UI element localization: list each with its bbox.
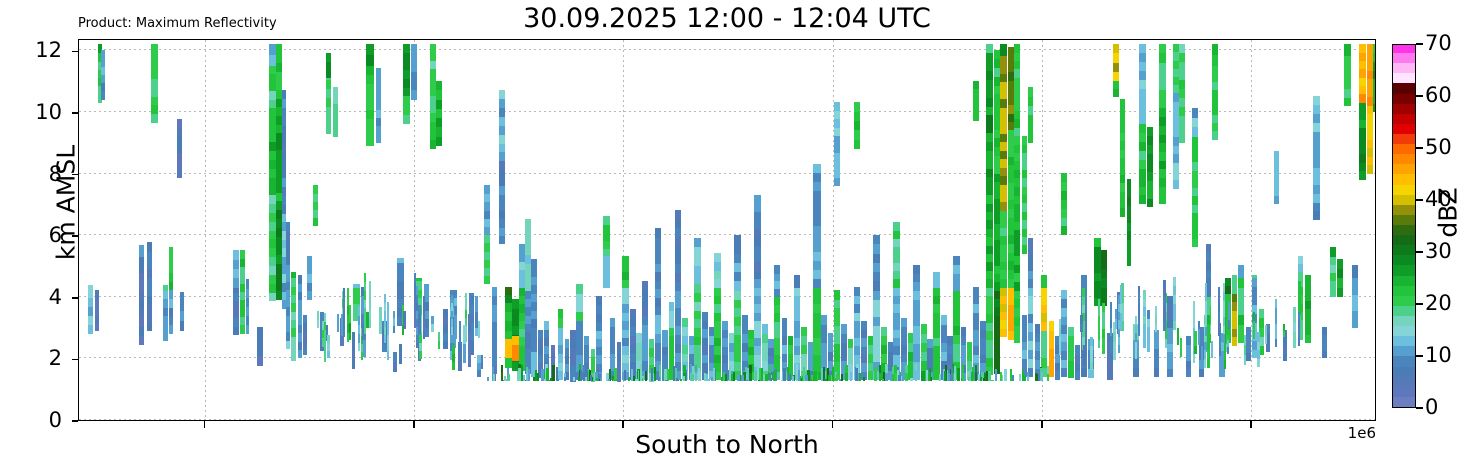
reflectivity-cell — [1205, 300, 1207, 309]
reflectivity-cell — [995, 369, 997, 381]
reflectivity-cell — [1246, 327, 1251, 336]
reflectivity-cell — [324, 337, 326, 346]
reflectivity-column — [807, 39, 809, 420]
reflectivity-column — [676, 39, 678, 420]
reflectivity-column — [758, 39, 760, 420]
reflectivity-cell — [347, 297, 349, 306]
reflectivity-cell — [1373, 62, 1376, 71]
reflectivity-cell — [1265, 334, 1267, 344]
reflectivity-cell — [88, 306, 93, 316]
reflectivity-column — [1223, 39, 1225, 420]
y-axis-tick-label: 12 — [2, 40, 62, 61]
reflectivity-column — [399, 39, 401, 420]
reflectivity-cell — [1049, 358, 1054, 368]
reflectivity-cell — [1090, 354, 1092, 363]
reflectivity-cell — [443, 325, 448, 334]
reflectivity-cell — [139, 263, 144, 273]
reflectivity-cell — [623, 380, 625, 381]
reflectivity-cell — [276, 71, 281, 81]
reflectivity-cell — [1082, 337, 1084, 346]
reflectivity-cell — [1167, 319, 1173, 327]
reflectivity-cell — [1061, 182, 1067, 191]
reflectivity-cell — [1068, 369, 1074, 378]
colorbar-tick — [1416, 355, 1423, 357]
reflectivity-column — [590, 39, 592, 420]
reflectivity-cell — [276, 254, 281, 264]
reflectivity-cell — [269, 116, 275, 125]
reflectivity-cell — [423, 305, 425, 314]
reflectivity-cell — [324, 345, 326, 354]
reflectivity-cell — [1246, 335, 1251, 344]
reflectivity-column — [1337, 39, 1343, 420]
reflectivity-cell — [905, 372, 907, 380]
reflectivity-column — [713, 39, 715, 420]
reflectivity-cell — [980, 377, 982, 381]
reflectivity-column — [763, 39, 765, 420]
reflectivity-cell — [101, 91, 104, 100]
reflectivity-column — [1244, 39, 1246, 420]
reflectivity-cell — [384, 327, 386, 336]
reflectivity-column — [631, 39, 633, 420]
reflectivity-column — [770, 39, 772, 420]
reflectivity-cell — [1127, 188, 1132, 197]
reflectivity-cell — [1194, 331, 1196, 339]
reflectivity-cell — [1223, 325, 1225, 334]
reflectivity-column — [856, 39, 858, 420]
reflectivity-cell — [1194, 338, 1196, 346]
reflectivity-column — [1218, 39, 1220, 420]
reflectivity-cell — [552, 365, 554, 373]
reflectivity-column — [578, 39, 580, 420]
reflectivity-cell — [151, 44, 157, 53]
reflectivity-cell — [1359, 77, 1366, 86]
reflectivity-cell — [954, 366, 956, 373]
reflectivity-column — [327, 39, 329, 420]
reflectivity-cell — [269, 257, 275, 266]
reflectivity-column — [894, 39, 896, 420]
reflectivity-cell — [324, 329, 326, 338]
reflectivity-column — [493, 39, 495, 420]
reflectivity-cell — [1359, 153, 1366, 162]
reflectivity-column — [487, 39, 489, 420]
reflectivity-cell — [1102, 345, 1104, 354]
reflectivity-cell — [493, 374, 495, 381]
reflectivity-cell — [169, 325, 174, 334]
reflectivity-cell — [1301, 303, 1303, 312]
reflectivity-cell — [1061, 350, 1067, 359]
reflectivity-column — [552, 39, 554, 420]
reflectivity-cell — [729, 373, 731, 381]
reflectivity-column — [814, 39, 816, 420]
reflectivity-column — [88, 39, 93, 420]
reflectivity-cell — [1373, 103, 1376, 112]
reflectivity-column — [890, 39, 892, 420]
reflectivity-cell — [298, 275, 303, 284]
reflectivity-cell — [737, 374, 739, 381]
reflectivity-cell — [298, 333, 303, 342]
reflectivity-column — [257, 39, 263, 420]
reflectivity-cell — [416, 294, 418, 303]
reflectivity-cell — [1110, 319, 1112, 328]
colorbar-label: dBZ — [1436, 143, 1461, 283]
reflectivity-cell — [803, 367, 805, 380]
reflectivity-cell — [1227, 347, 1229, 354]
colorbar-tick — [1416, 147, 1423, 149]
reflectivity-cell — [384, 302, 386, 311]
reflectivity-cell — [608, 379, 610, 381]
reflectivity-cell — [868, 371, 873, 380]
reflectivity-column — [665, 39, 667, 420]
reflectivity-cell — [1344, 44, 1350, 57]
reflectivity-cell — [1138, 294, 1140, 303]
reflectivity-cell — [1110, 311, 1112, 320]
reflectivity-cell — [796, 364, 798, 372]
reflectivity-cell — [1143, 299, 1145, 308]
reflectivity-column — [882, 39, 884, 420]
reflectivity-cell — [557, 379, 559, 381]
reflectivity-cell — [1102, 312, 1104, 321]
reflectivity-cell — [298, 291, 303, 300]
reflectivity-cell — [307, 256, 312, 265]
reflectivity-cell — [169, 307, 174, 316]
reflectivity-cell — [269, 239, 275, 248]
reflectivity-cell — [471, 304, 473, 314]
reflectivity-cell — [1118, 336, 1120, 345]
reflectivity-column — [905, 39, 907, 420]
reflectivity-cell — [1138, 302, 1140, 311]
reflectivity-cell — [1163, 288, 1165, 297]
reflectivity-cell — [291, 294, 297, 303]
reflectivity-cell — [1023, 376, 1025, 381]
reflectivity-column — [1135, 39, 1137, 420]
reflectivity-cell — [1198, 321, 1200, 329]
reflectivity-cell — [1135, 341, 1137, 350]
reflectivity-cell — [291, 328, 297, 337]
reflectivity-cell — [590, 375, 592, 380]
reflectivity-cell — [269, 159, 275, 168]
reflectivity-cell — [276, 210, 281, 220]
reflectivity-cell — [868, 345, 873, 354]
reflectivity-column — [1143, 39, 1145, 420]
reflectivity-cell — [298, 316, 303, 325]
reflectivity-cell — [755, 371, 757, 381]
reflectivity-cell — [1330, 288, 1336, 297]
reflectivity-cell — [1118, 320, 1120, 329]
reflectivity-column — [557, 39, 559, 420]
reflectivity-cell — [163, 307, 168, 316]
reflectivity-cell — [975, 373, 977, 381]
reflectivity-cell — [139, 308, 144, 318]
reflectivity-cell — [1061, 316, 1067, 325]
reflectivity-cell — [403, 320, 405, 329]
reflectivity-column — [169, 39, 174, 420]
reflectivity-cell — [805, 375, 807, 381]
reflectivity-cell — [1205, 283, 1207, 292]
reflectivity-cell — [544, 379, 546, 381]
reflectivity-cell — [327, 343, 329, 351]
reflectivity-cell — [384, 294, 386, 303]
reflectivity-cell — [358, 333, 360, 343]
reflectivity-column — [971, 39, 973, 420]
reflectivity-cell — [749, 365, 751, 373]
reflectivity-cell — [882, 379, 884, 380]
reflectivity-cell — [1143, 290, 1145, 299]
reflectivity-cell — [291, 272, 297, 279]
plot-area[interactable] — [78, 39, 1376, 421]
reflectivity-cell — [1061, 325, 1067, 334]
reflectivity-cell — [1118, 328, 1120, 337]
reflectivity-column — [944, 39, 946, 420]
reflectivity-cell — [337, 314, 339, 323]
reflectivity-cell — [1061, 191, 1067, 200]
reflectivity-column — [635, 39, 637, 420]
reflectivity-cell — [1301, 287, 1303, 296]
reflectivity-column — [745, 39, 747, 420]
reflectivity-cell — [257, 346, 263, 356]
reflectivity-cell — [151, 96, 157, 105]
reflectivity-cell — [1352, 265, 1358, 278]
reflectivity-cell — [1061, 290, 1067, 299]
reflectivity-cell — [414, 291, 416, 301]
reflectivity-cell — [1367, 96, 1373, 105]
reflectivity-cell — [773, 371, 775, 381]
reflectivity-cell — [240, 317, 245, 326]
reflectivity-cell — [246, 306, 250, 316]
reflectivity-column — [698, 39, 700, 420]
reflectivity-cell — [276, 272, 281, 282]
reflectivity-cell — [1305, 325, 1310, 334]
colorbar-segment — [1393, 335, 1415, 346]
reflectivity-cell — [169, 299, 174, 308]
reflectivity-cell — [1098, 331, 1100, 340]
colorbar-segment — [1393, 255, 1415, 266]
reflectivity-cell — [233, 309, 238, 318]
reflectivity-cell — [692, 366, 694, 374]
reflectivity-cell — [337, 322, 339, 331]
reflectivity-cell — [269, 274, 275, 283]
reflectivity-cell — [414, 318, 416, 328]
reflectivity-cell — [1373, 95, 1376, 104]
reflectivity-cell — [828, 375, 830, 381]
reflectivity-cell — [1167, 352, 1173, 361]
reflectivity-cell — [1305, 317, 1310, 326]
reflectivity-column — [645, 39, 647, 420]
reflectivity-cell — [471, 340, 473, 350]
reflectivity-column — [926, 39, 928, 420]
reflectivity-cell — [276, 290, 281, 300]
reflectivity-column — [600, 39, 602, 420]
colorbar-segment — [1393, 164, 1415, 175]
reflectivity-cell — [1359, 171, 1366, 180]
reflectivity-column — [1167, 39, 1173, 420]
reflectivity-cell — [1313, 211, 1319, 220]
x-axis-tick — [1250, 421, 1252, 428]
reflectivity-column — [803, 39, 805, 420]
reflectivity-cell — [1275, 331, 1277, 340]
reflectivity-cell — [1301, 295, 1303, 304]
reflectivity-column — [1344, 39, 1350, 420]
reflectivity-cell — [983, 378, 985, 381]
reflectivity-cell — [1367, 156, 1373, 165]
reflectivity-cell — [939, 374, 941, 380]
reflectivity-column — [1068, 39, 1074, 420]
reflectivity-cell — [836, 374, 838, 380]
reflectivity-cell — [1232, 275, 1237, 285]
reflectivity-cell — [1275, 299, 1277, 308]
reflectivity-cell — [1367, 79, 1373, 88]
reflectivity-cell — [1359, 145, 1366, 154]
reflectivity-cell — [233, 268, 238, 278]
reflectivity-column — [910, 39, 912, 420]
reflectivity-cell — [905, 365, 907, 373]
reflectivity-cell — [233, 301, 238, 310]
reflectivity-cell — [419, 343, 421, 351]
reflectivity-cell — [1218, 319, 1220, 328]
reflectivity-cell — [1135, 324, 1137, 333]
colorbar-segment — [1393, 184, 1415, 195]
reflectivity-column — [640, 39, 642, 420]
reflectivity-cell — [1143, 339, 1145, 348]
colorbar-segment — [1393, 194, 1415, 205]
reflectivity-cell — [713, 368, 715, 381]
reflectivity-cell — [1118, 345, 1120, 354]
reflectivity-cell — [1090, 337, 1092, 346]
colorbar-tick — [1416, 407, 1423, 409]
reflectivity-column — [1257, 39, 1259, 420]
reflectivity-cell — [1167, 360, 1173, 369]
reflectivity-cell — [698, 368, 700, 381]
reflectivity-column — [683, 39, 685, 420]
colorbar-tick — [1416, 95, 1423, 97]
reflectivity-cell — [240, 292, 245, 301]
reflectivity-column — [1373, 39, 1376, 420]
reflectivity-column — [324, 39, 326, 420]
reflectivity-cell — [1147, 335, 1149, 344]
reflectivity-cell — [879, 365, 881, 373]
reflectivity-column — [711, 39, 713, 420]
reflectivity-cell — [1257, 332, 1259, 341]
colorbar-segment — [1393, 305, 1415, 316]
reflectivity-cell — [1102, 329, 1104, 338]
reflectivity-cell — [1223, 334, 1225, 343]
reflectivity-cell — [1205, 318, 1207, 327]
reflectivity-cell — [101, 83, 104, 92]
colorbar-tick — [1416, 303, 1423, 305]
reflectivity-cell — [1110, 327, 1112, 336]
colorbar-segment — [1393, 275, 1415, 286]
reflectivity-cell — [1118, 312, 1120, 321]
colorbar[interactable] — [1392, 44, 1416, 408]
reflectivity-column — [810, 39, 812, 420]
colorbar-segment — [1393, 113, 1415, 124]
colorbar-segment — [1393, 123, 1415, 134]
reflectivity-column — [596, 39, 598, 420]
reflectivity-column — [403, 39, 405, 420]
reflectivity-cell — [783, 368, 785, 381]
reflectivity-cell — [863, 377, 865, 380]
reflectivity-cell — [276, 158, 281, 167]
reflectivity-cell — [393, 318, 395, 326]
reflectivity-cell — [291, 278, 297, 287]
reflectivity-cell — [879, 373, 881, 381]
reflectivity-cell — [1098, 339, 1100, 348]
reflectivity-cell — [1173, 303, 1175, 312]
reflectivity-cell — [163, 315, 168, 324]
reflectivity-cell — [1283, 330, 1285, 337]
reflectivity-cell — [139, 245, 144, 256]
reflectivity-cell — [600, 378, 602, 380]
reflectivity-cell — [1102, 337, 1104, 346]
reflectivity-cell — [1049, 367, 1054, 377]
reflectivity-cell — [1293, 339, 1295, 348]
reflectivity-cell — [1167, 335, 1173, 344]
reflectivity-cell — [583, 365, 585, 373]
reflectivity-cell — [384, 335, 386, 344]
reflectivity-column — [478, 39, 480, 420]
reflectivity-column — [1227, 39, 1229, 420]
colorbar-segment — [1393, 62, 1415, 73]
reflectivity-cell — [1068, 335, 1074, 344]
reflectivity-cell — [1367, 61, 1373, 70]
reflectivity-cell — [269, 212, 275, 221]
reflectivity-column — [1211, 39, 1213, 420]
reflectivity-cell — [1330, 256, 1336, 265]
colorbar-segment — [1393, 174, 1415, 185]
reflectivity-column — [1198, 39, 1200, 420]
reflectivity-column — [617, 39, 622, 420]
reflectivity-column — [1080, 39, 1082, 420]
reflectivity-cell — [552, 373, 554, 381]
reflectivity-cell — [1218, 303, 1220, 312]
reflectivity-cell — [327, 335, 329, 343]
reflectivity-cell — [269, 108, 275, 117]
reflectivity-cell — [1098, 299, 1100, 308]
reflectivity-column — [773, 39, 775, 420]
reflectivity-cell — [1232, 311, 1237, 320]
reflectivity-cell — [868, 353, 873, 362]
colorbar-segment — [1393, 133, 1415, 144]
reflectivity-cell — [276, 81, 281, 91]
reflectivity-column — [521, 39, 523, 420]
reflectivity-column — [828, 39, 830, 420]
reflectivity-cell — [654, 373, 656, 380]
reflectivity-cell — [1301, 279, 1303, 288]
reflectivity-cell — [298, 300, 303, 309]
reflectivity-cell — [1138, 327, 1140, 336]
reflectivity-cell — [459, 321, 461, 329]
reflectivity-cell — [1232, 337, 1237, 346]
reflectivity-cell — [169, 256, 174, 265]
reflectivity-column — [1155, 39, 1157, 420]
reflectivity-cell — [1359, 102, 1366, 111]
reflectivity-cell — [1061, 199, 1067, 208]
reflectivity-cell — [1082, 312, 1084, 321]
reflectivity-column — [885, 39, 887, 420]
reflectivity-cell — [163, 332, 168, 341]
reflectivity-cell — [1198, 337, 1200, 345]
reflectivity-cell — [1352, 302, 1358, 311]
reflectivity-cell — [298, 341, 303, 350]
reflectivity-cell — [763, 374, 765, 380]
reflectivity-cell — [139, 290, 144, 300]
reflectivity-cell — [139, 317, 144, 327]
reflectivity-cell — [1186, 360, 1191, 369]
reflectivity-cell — [1367, 105, 1373, 114]
reflectivity-cell — [1244, 335, 1246, 345]
reflectivity-cell — [379, 325, 381, 334]
reflectivity-cell — [1143, 323, 1145, 332]
reflectivity-cell — [1041, 372, 1043, 381]
